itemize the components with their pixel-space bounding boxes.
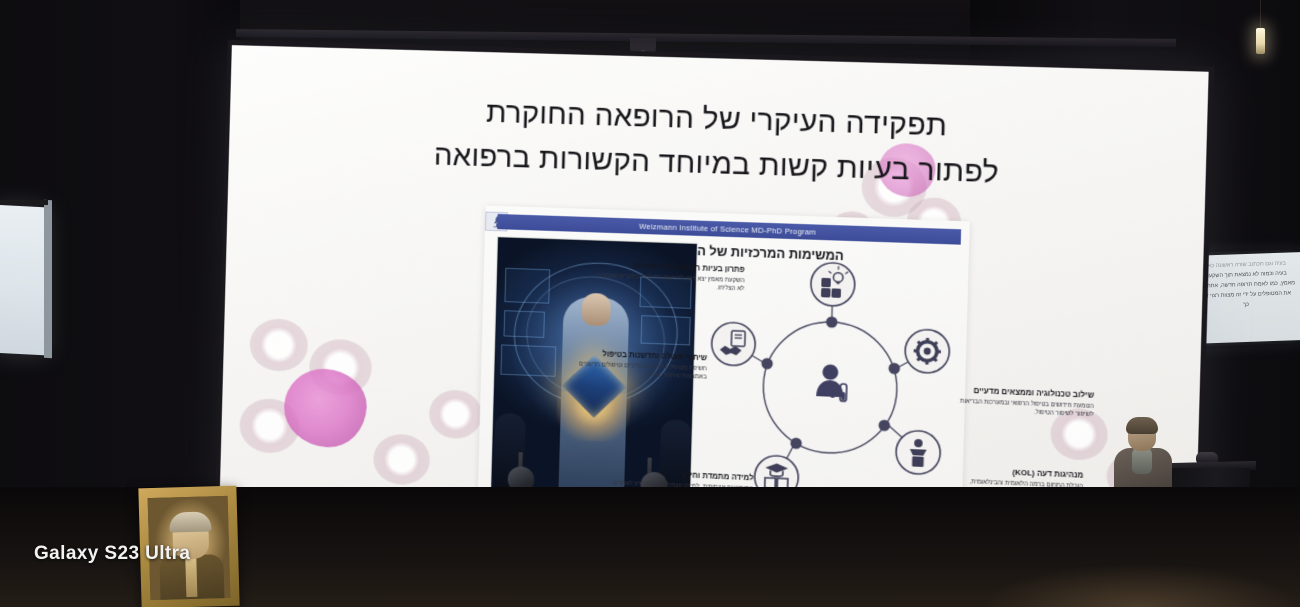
speaker-scarf <box>1132 448 1152 474</box>
portrait-hair <box>169 511 212 532</box>
hud-panel <box>503 310 545 338</box>
left-screen-top-frame <box>0 200 48 205</box>
floor-light-reflection <box>980 517 1300 607</box>
speaker-hair <box>1126 417 1158 434</box>
hud-panel <box>504 268 550 304</box>
title-line-2: לפתור בעיות קשות במיוחד הקשורות ברפואה <box>268 128 1173 201</box>
slide-title: תפקידה העיקרי של הרופאה החוקרת לפתור בעי… <box>268 84 1174 201</box>
left-screen-edge <box>44 200 52 358</box>
title-line-1: תפקידה העיקרי של הרופאה החוקרת <box>486 96 948 142</box>
left-secondary-screen <box>0 205 46 356</box>
red-blood-cell <box>373 433 431 486</box>
hub-and-spoke-diagram: פתרון בעיות רפואיות לא פתורות השקעת מאמץ… <box>695 255 967 521</box>
hanging-light <box>1256 28 1265 54</box>
node-label-technology-integration: שילוב טכנולוגיה וממצאים מדעיים הטמעת חיד… <box>954 385 1094 419</box>
light-cord <box>1260 0 1261 30</box>
monitor-line: כך <box>1197 298 1295 311</box>
camera-watermark: Galaxy S23 Ultra <box>34 543 190 565</box>
node-label-unsolved-problems: פתרון בעיות רפואיות לא פתורות השקעת מאמץ… <box>592 260 745 294</box>
red-blood-cell <box>249 318 309 372</box>
node-body: הטמעת חידושים בטיפול הרפואי ובמערכות הבר… <box>954 397 1094 419</box>
auditorium-scene: בעיה וגם תכתוב שורה ראשונה כאן בעיה וכמו… <box>0 0 1300 607</box>
hud-panel <box>641 315 691 345</box>
node-label-collaboration-innovation: שיתוף פעולה וחדשנות בטיפול חשיפת מטופלים… <box>571 348 707 381</box>
red-blood-cell <box>429 389 483 439</box>
hud-panel <box>500 344 556 376</box>
scientist-head <box>581 293 611 326</box>
